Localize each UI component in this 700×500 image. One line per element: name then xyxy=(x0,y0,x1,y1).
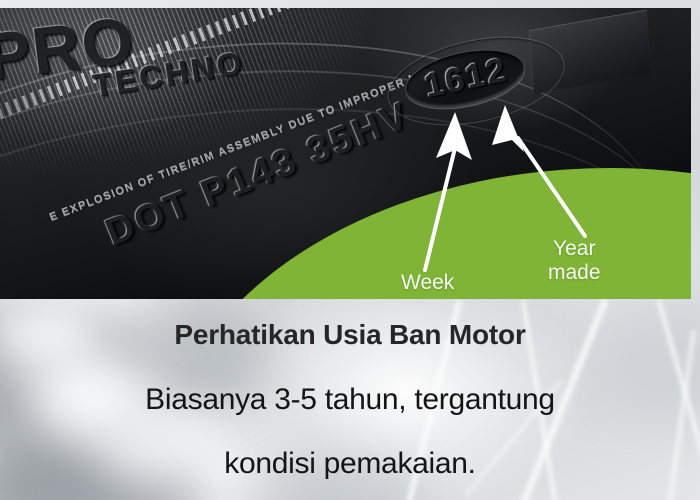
callout-label-year-made: Year made xyxy=(548,237,601,284)
tire-photo: PRO TECHNO E EXPLOSION OF TIRE/RIM ASSEM… xyxy=(0,8,691,299)
caption-subline-2: kondisi pemakaian. xyxy=(0,447,700,481)
caption-block: Perhatikan Usia Ban Motor Biasanya 3-5 t… xyxy=(0,299,700,500)
year-arrow-icon xyxy=(492,105,585,236)
caption-subline-1: Biasanya 3-5 tahun, tergantung xyxy=(0,383,700,417)
callout-layer: Week Year made xyxy=(0,8,691,299)
caption-headline: Perhatikan Usia Ban Motor xyxy=(0,319,700,351)
week-arrow-icon xyxy=(425,112,472,270)
callout-label-week: Week xyxy=(401,271,454,295)
